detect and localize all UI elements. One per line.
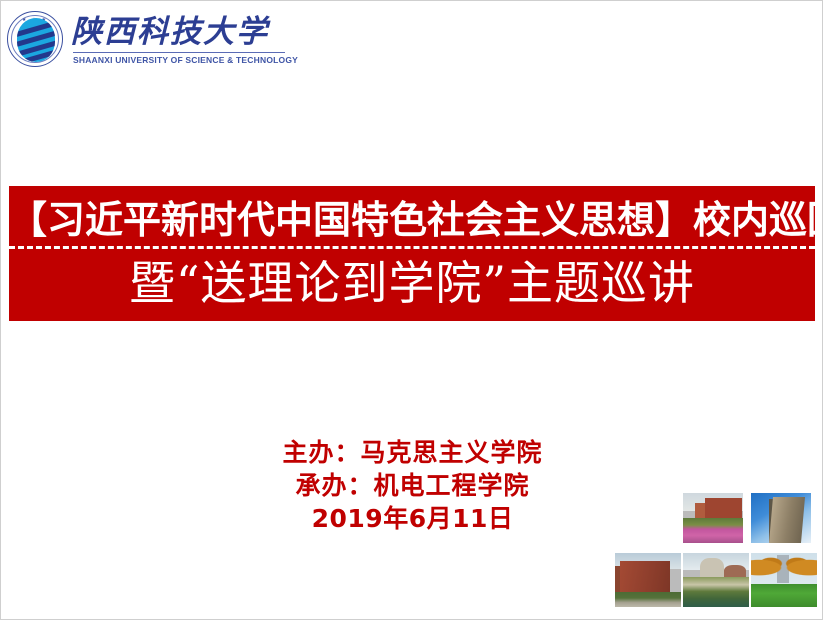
photo-building [769, 497, 805, 543]
organizer-host: 主办：马克思主义学院 [1, 436, 823, 469]
photo-library-pond [681, 551, 751, 609]
banner-title-line-1: 【习近平新时代中国特色社会主义思想】校内巡回讲座 [9, 196, 815, 244]
university-name-en: SHAANXI UNIVERSITY OF SCIENCE & TECHNOLO… [71, 55, 298, 65]
photo-building [620, 561, 670, 593]
photo-brick-building-flowers [681, 491, 745, 545]
photo-building [705, 498, 742, 518]
shaanxi-ust-emblem-icon: ★ ★ ★ [7, 11, 63, 67]
photo-foreground-flowers [683, 518, 743, 543]
campus-photo-collage [609, 485, 819, 611]
wordmark-divider [73, 52, 285, 53]
photo-autumn-trees-tower [749, 551, 819, 609]
photo-foreground-lawn [751, 584, 817, 607]
photo-foreground-pond [683, 577, 749, 607]
presentation-slide: ★ ★ ★ 陕西科技大学 SHAANXI UNIVERSITY OF SCIEN… [0, 0, 823, 620]
title-banner: 【习近平新时代中国特色社会主义思想】校内巡回讲座 暨“送理论到学院”主题巡讲 [9, 186, 815, 321]
emblem-core [17, 18, 55, 62]
university-logo: ★ ★ ★ 陕西科技大学 SHAANXI UNIVERSITY OF SCIEN… [7, 5, 287, 73]
banner-dashed-divider [9, 246, 815, 249]
logo-wordmark: 陕西科技大学 SHAANXI UNIVERSITY OF SCIENCE & T… [71, 13, 298, 66]
photo-autumn-trees [751, 554, 817, 587]
photo-high-rise-blue-sky [749, 491, 813, 545]
photo-red-brick-academic [613, 551, 683, 609]
university-name-cn: 陕西科技大学 [71, 15, 298, 51]
banner-title-line-2: 暨“送理论到学院”主题巡讲 [9, 252, 815, 314]
photo-foreground-ground [615, 592, 681, 607]
